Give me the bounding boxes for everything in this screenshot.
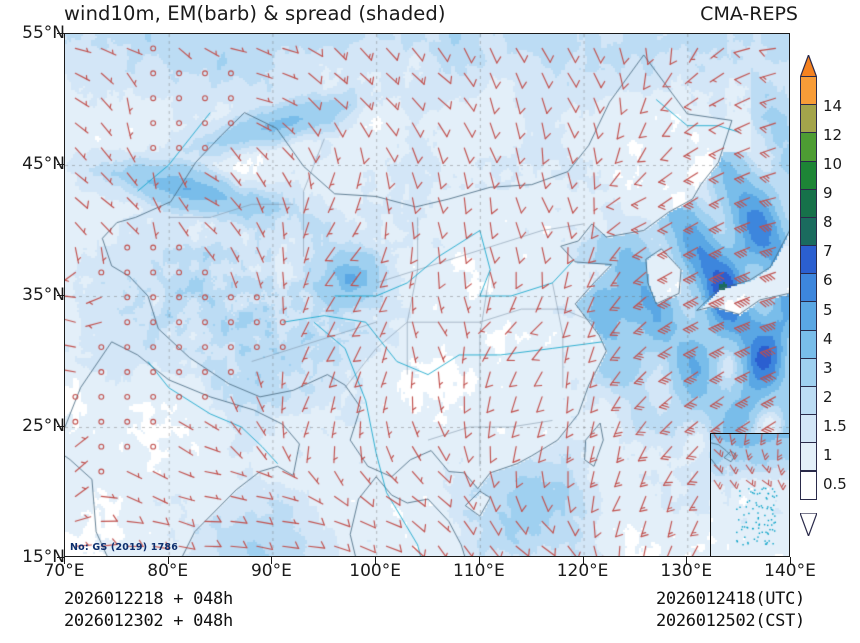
- xtick-label-140E: 140°E: [764, 561, 816, 581]
- colorbar-under-arrow: [800, 513, 817, 535]
- page-title: wind10m, EM(barb) & spread (shaded): [64, 2, 446, 25]
- xtick-mark: [271, 557, 272, 564]
- xtick-label-80E: 80°E: [147, 561, 188, 581]
- colorbar-over-arrow: [800, 55, 817, 77]
- colorbar-tick-2: 2: [823, 388, 833, 406]
- xtick-mark: [64, 557, 65, 564]
- colorbar[interactable]: 0.511.523456789101214: [800, 55, 856, 535]
- colorbar-segment: [800, 104, 817, 133]
- xtick-label-130E: 130°E: [660, 561, 712, 581]
- colorbar-tick-5: 5: [823, 301, 833, 319]
- xtick-label-110E: 110°E: [453, 561, 505, 581]
- model-label: CMA-REPS: [700, 3, 798, 25]
- ytick-mark: [57, 33, 64, 34]
- colorbar-segment: [800, 273, 817, 302]
- colorbar-tick-6: 6: [823, 271, 833, 289]
- colorbar-segment: [800, 358, 817, 387]
- colorbar-segment: [800, 330, 817, 359]
- colorbar-tick-9: 9: [823, 184, 833, 202]
- colorbar-segments: [800, 77, 817, 500]
- colorbar-tick-4: 4: [823, 330, 833, 348]
- colorbar-tick-12: 12: [823, 126, 842, 144]
- xtick-mark: [168, 557, 169, 564]
- colorbar-segment: [800, 189, 817, 218]
- colorbar-tick-8: 8: [823, 213, 833, 231]
- wind-barb-layer: [65, 34, 790, 557]
- xtick-mark: [790, 557, 791, 564]
- colorbar-segment: [800, 442, 817, 471]
- colorbar-tick-7: 7: [823, 242, 833, 260]
- xtick-mark: [686, 557, 687, 564]
- colorbar-tick-1: 1: [823, 446, 833, 464]
- ytick-mark: [57, 164, 64, 165]
- colorbar-segment: [800, 76, 817, 105]
- xtick-label-90E: 90°E: [251, 561, 292, 581]
- colorbar-segment: [800, 245, 817, 274]
- ytick-mark: [57, 426, 64, 427]
- xtick-label-100E: 100°E: [349, 561, 401, 581]
- footer-valid-cst: 2026012502(CST): [656, 611, 805, 631]
- xtick-mark: [375, 557, 376, 564]
- xtick-mark: [583, 557, 584, 564]
- ytick-mark: [57, 295, 64, 296]
- colorbar-tick-10: 10: [823, 155, 842, 173]
- colorbar-segment: [800, 471, 817, 500]
- map-watermark: No: GS (2019) 1786: [70, 542, 178, 553]
- footer-init-utc: 2026012218 + 048h: [64, 589, 233, 609]
- xtick-label-120E: 120°E: [557, 561, 609, 581]
- xtick-mark: [479, 557, 480, 564]
- colorbar-segment: [800, 217, 817, 246]
- ytick-mark: [57, 557, 64, 558]
- map-plot-area[interactable]: No: GS (2019) 1786: [64, 33, 790, 557]
- south-china-sea-inset: [710, 433, 790, 557]
- inset-map-layer: [711, 434, 790, 557]
- footer-valid-utc: 2026012418(UTC): [656, 589, 805, 609]
- colorbar-tick-14: 14: [823, 97, 842, 115]
- colorbar-tick-1p5: 1.5: [823, 417, 847, 435]
- colorbar-tick-3: 3: [823, 359, 833, 377]
- colorbar-segment: [800, 161, 817, 190]
- colorbar-segment: [800, 132, 817, 161]
- colorbar-segment: [800, 301, 817, 330]
- colorbar-segment: [800, 414, 817, 443]
- xtick-label-70E: 70°E: [44, 561, 85, 581]
- footer-init-cst: 2026012302 + 048h: [64, 611, 233, 631]
- colorbar-tick-0p5: 0.5: [823, 475, 847, 493]
- colorbar-segment: [800, 386, 817, 415]
